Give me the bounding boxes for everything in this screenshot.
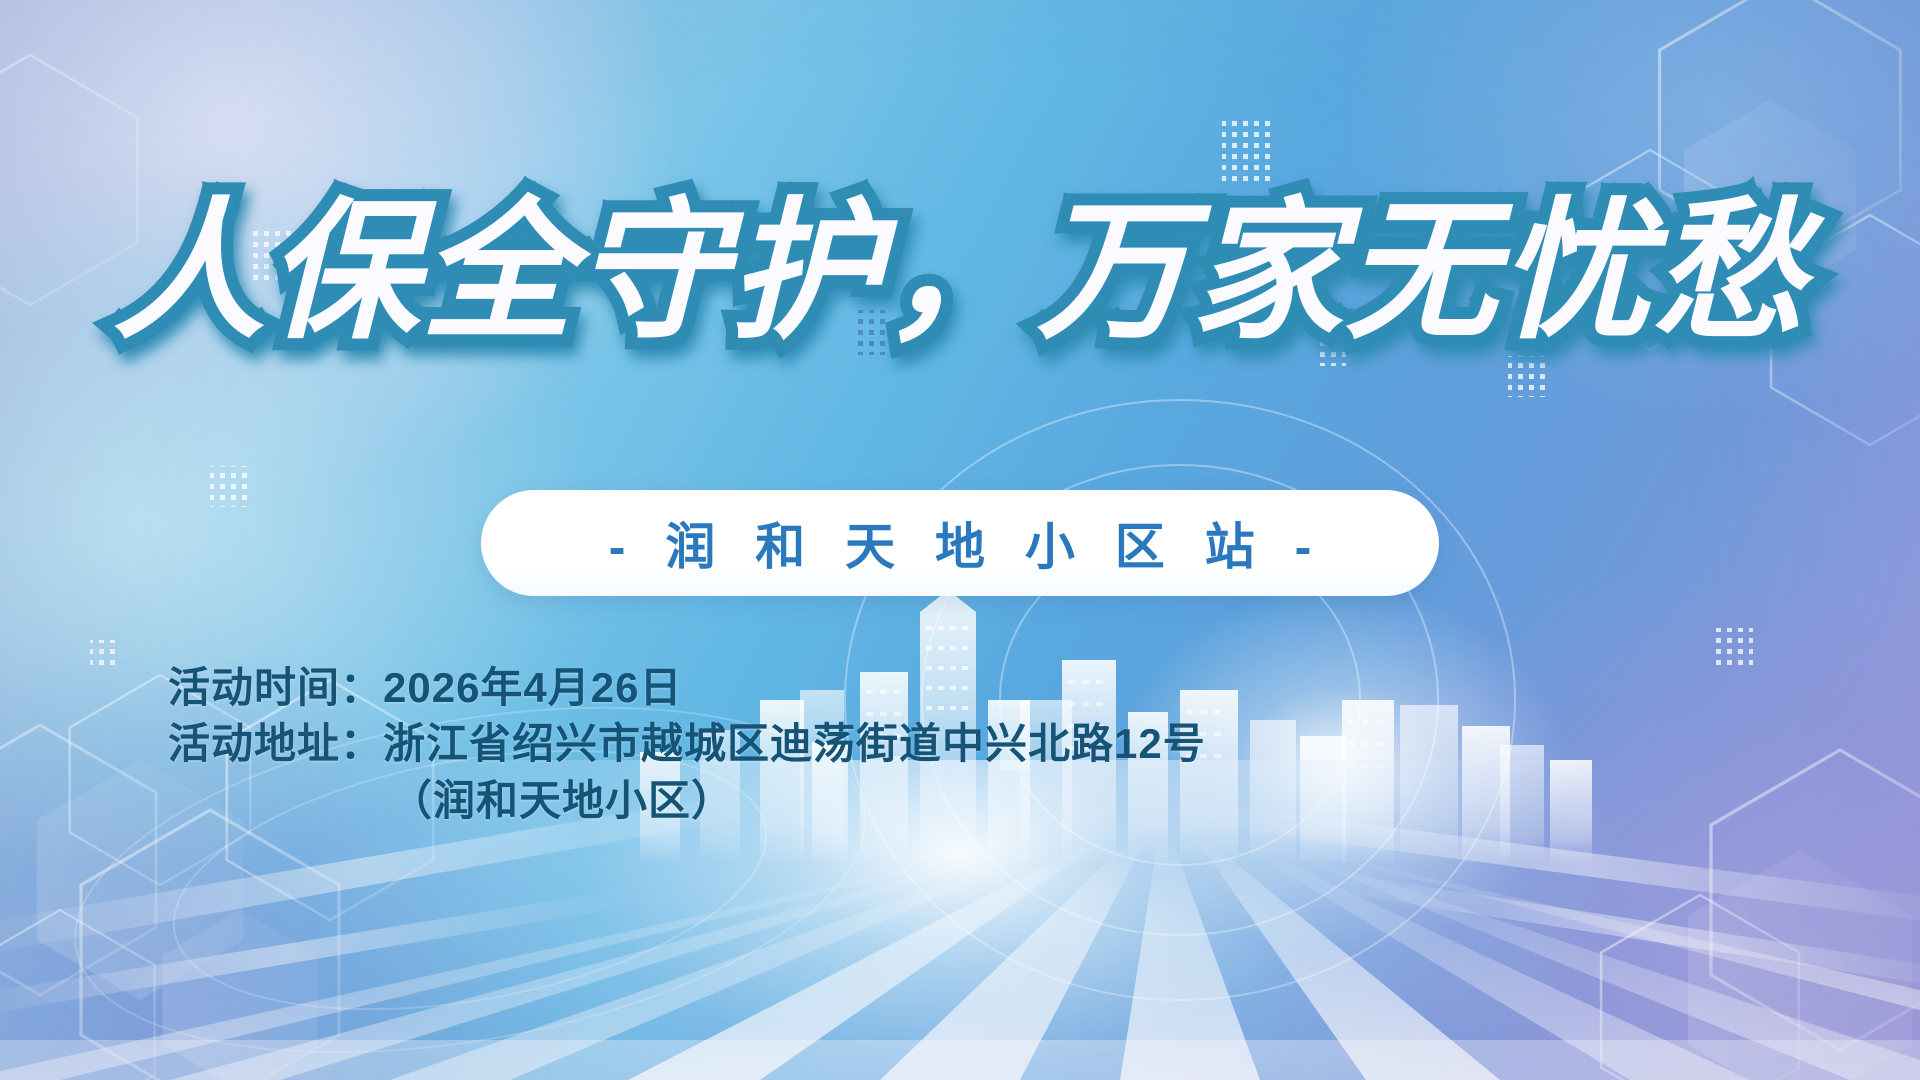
event-address-note-line: （润和天地小区） <box>168 773 1206 829</box>
event-info-block: 活动时间：2026年4月26日 活动地址：浙江省绍兴市越城区迪荡街道中兴北路12… <box>168 660 1206 829</box>
page-title: 人保全守护，万家无忧愁 <box>0 196 1920 348</box>
headline-block: 人保全守护，万家无忧愁 人保全守护，万家无忧愁 人保全守护，万家无忧愁 人保全守… <box>0 196 1920 348</box>
banner-content: 人保全守护，万家无忧愁 人保全守护，万家无忧愁 人保全守护，万家无忧愁 人保全守… <box>0 0 1920 1080</box>
station-pill: - 润 和 天 地 小 区 站 - <box>481 490 1439 596</box>
event-time-line: 活动时间：2026年4月26日 <box>168 660 1206 716</box>
promo-banner: 人保全守护，万家无忧愁 人保全守护，万家无忧愁 人保全守护，万家无忧愁 人保全守… <box>0 0 1920 1080</box>
event-address-line: 活动地址：浙江省绍兴市越城区迪荡街道中兴北路12号 <box>168 716 1206 772</box>
station-pill-label: - 润 和 天 地 小 区 站 - <box>596 507 1324 579</box>
